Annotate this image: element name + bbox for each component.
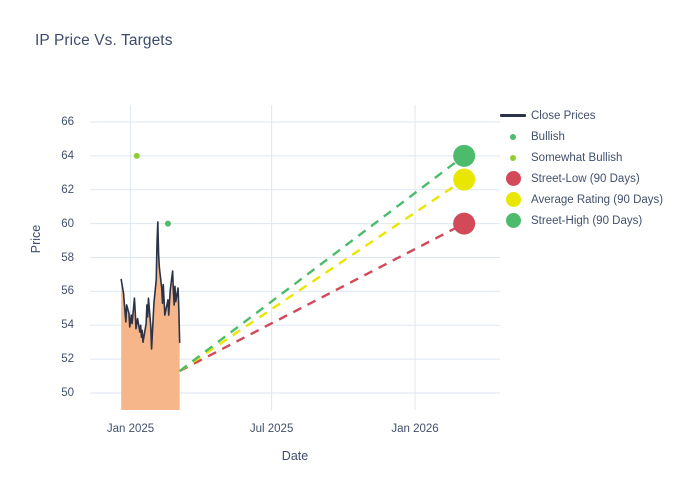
target-projection-lines [180,156,465,371]
target-marker[interactable] [453,169,475,191]
legend-label: Street-High (90 Days) [528,215,642,227]
x-tick-label: Jul 2025 [212,423,332,435]
legend-marker-icon [498,189,528,210]
legend-label: Close Prices [528,110,596,122]
legend-item[interactable]: Average Rating (90 Days) [498,189,698,210]
chart-container: IP Price Vs. Targets 505254565860626466 … [0,0,700,500]
legend-item[interactable]: Bullish [498,126,698,147]
target-marker[interactable] [453,213,475,235]
legend-marker-icon [498,147,528,168]
y-tick-label: 54 [30,319,74,331]
target-line [180,224,465,371]
target-line [180,156,465,371]
legend-label: Street-Low (90 Days) [528,173,640,185]
sentiment-marker[interactable] [134,153,140,159]
y-axis-title: Price [29,199,43,279]
legend-marker-icon [498,105,528,126]
x-tick-label: Jan 2025 [71,423,191,435]
legend-label: Average Rating (90 Days) [528,194,663,206]
y-tick-label: 62 [30,184,74,196]
y-tick-label: 52 [30,353,74,365]
y-tick-label: 66 [30,116,74,128]
legend-label: Bullish [528,131,565,143]
target-line [180,180,465,371]
legend-marker-icon [498,210,528,231]
x-axis-title: Date [205,449,385,463]
sentiment-marker[interactable] [165,221,171,227]
legend-item[interactable]: Street-Low (90 Days) [498,168,698,189]
y-tick-label: 64 [30,150,74,162]
y-axis-ticks: 505254565860626466 [14,0,74,500]
legend-item[interactable]: Close Prices [498,105,698,126]
chart-legend: Close PricesBullishSomewhat BullishStree… [498,105,698,231]
legend-marker-icon [498,126,528,147]
y-tick-label: 56 [30,285,74,297]
y-tick-label: 50 [30,387,74,399]
legend-label: Somewhat Bullish [528,152,622,164]
legend-item[interactable]: Somewhat Bullish [498,147,698,168]
x-tick-label: Jan 2026 [355,423,475,435]
legend-marker-icon [498,168,528,189]
target-marker[interactable] [453,145,475,167]
legend-item[interactable]: Street-High (90 Days) [498,210,698,231]
